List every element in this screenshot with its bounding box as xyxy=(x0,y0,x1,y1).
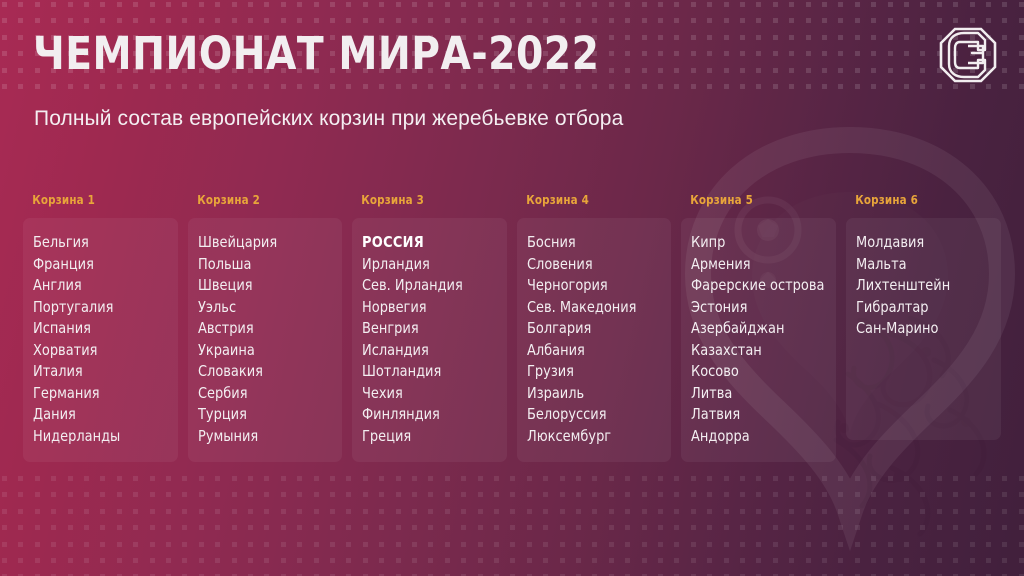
team-name: Азербайджан xyxy=(691,318,817,340)
team-name: Сербия xyxy=(198,383,323,405)
team-name: Англия xyxy=(33,275,158,297)
team-name: Болгария xyxy=(527,318,652,340)
team-name: Румыния xyxy=(198,426,323,448)
page-subtitle: Полный состав европейских корзин при жер… xyxy=(34,107,623,131)
team-name: Исландия xyxy=(362,340,487,362)
team-name: Белоруссия xyxy=(527,404,652,426)
team-name: Литва xyxy=(691,383,817,405)
team-name: Андорра xyxy=(691,426,817,448)
team-name: Албания xyxy=(527,340,652,362)
basket-card: БоснияСловенияЧерногорияСев. МакедонияБо… xyxy=(517,218,672,462)
team-name: Франция xyxy=(33,254,158,276)
basket-card: ШвейцарияПольшаШвецияУэльсАвстрияУкраина… xyxy=(188,218,343,462)
team-name: Ирландия xyxy=(362,254,487,276)
team-name: Польша xyxy=(198,254,323,276)
sport-express-logo-icon[interactable] xyxy=(938,26,998,84)
team-name: Уэльс xyxy=(198,297,323,319)
team-name: Финляндия xyxy=(362,404,487,426)
team-name: Гибралтар xyxy=(856,297,981,319)
team-name-highlighted: РОССИЯ xyxy=(362,232,487,254)
team-name: Эстония xyxy=(691,297,817,319)
team-name: Черногория xyxy=(527,275,652,297)
basket-card: КипрАрменияФарерские островаЭстонияАзерб… xyxy=(681,218,836,462)
team-name: Италия xyxy=(33,361,158,383)
team-name: Швейцария xyxy=(198,232,323,254)
team-name: Дания xyxy=(33,404,158,426)
team-name: Норвегия xyxy=(362,297,487,319)
baskets-container: Корзина 1БельгияФранцияАнглияПортугалияИ… xyxy=(23,192,1001,462)
team-name: Сев. Ирландия xyxy=(362,275,487,297)
team-name: Словакия xyxy=(198,361,323,383)
infographic-canvas: ЧЕМПИОНАТ МИРА-2022 Полный состав европе… xyxy=(0,0,1024,576)
team-name: Грузия xyxy=(527,361,652,383)
basket-card: МолдавияМальтаЛихтенштейнГибралтарСан-Ма… xyxy=(846,218,1001,440)
basket-card: РОССИЯИрландияСев. ИрландияНорвегияВенгр… xyxy=(352,218,507,462)
basket-column: Корзина 4БоснияСловенияЧерногорияСев. Ма… xyxy=(517,192,672,462)
team-name: Армения xyxy=(691,254,817,276)
team-name: Австрия xyxy=(198,318,323,340)
team-name: Бельгия xyxy=(33,232,158,254)
team-name: Украина xyxy=(198,340,323,362)
basket-title: Корзина 1 xyxy=(23,192,165,207)
basket-column: Корзина 6МолдавияМальтаЛихтенштейнГибрал… xyxy=(846,192,1001,462)
team-name: Швеция xyxy=(198,275,323,297)
basket-card: БельгияФранцияАнглияПортугалияИспанияХор… xyxy=(23,218,178,462)
basket-title: Корзина 2 xyxy=(188,192,330,207)
team-name: Люксембург xyxy=(527,426,652,448)
team-name: Фарерские острова xyxy=(691,275,817,297)
team-name: Чехия xyxy=(362,383,487,405)
team-name: Лихтенштейн xyxy=(856,275,981,297)
team-name: Греция xyxy=(362,426,487,448)
team-name: Кипр xyxy=(691,232,817,254)
dot-pattern-bottom xyxy=(0,476,1024,576)
team-name: Косово xyxy=(691,361,817,383)
team-name: Босния xyxy=(527,232,652,254)
team-name: Испания xyxy=(33,318,158,340)
team-name: Турция xyxy=(198,404,323,426)
basket-title: Корзина 4 xyxy=(517,192,659,207)
team-name: Сев. Македония xyxy=(527,297,652,319)
team-name: Мальта xyxy=(856,254,981,276)
team-name: Сан-Марино xyxy=(856,318,981,340)
team-name: Хорватия xyxy=(33,340,158,362)
team-name: Словения xyxy=(527,254,652,276)
team-name: Португалия xyxy=(33,297,158,319)
team-name: Молдавия xyxy=(856,232,981,254)
basket-column: Корзина 5КипрАрменияФарерские островаЭст… xyxy=(681,192,836,462)
team-name: Нидерланды xyxy=(33,426,158,448)
team-name: Латвия xyxy=(691,404,817,426)
page-title: ЧЕМПИОНАТ МИРА-2022 xyxy=(33,27,599,80)
basket-column: Корзина 1БельгияФранцияАнглияПортугалияИ… xyxy=(23,192,178,462)
team-name: Казахстан xyxy=(691,340,817,362)
team-name: Шотландия xyxy=(362,361,487,383)
team-name: Германия xyxy=(33,383,158,405)
team-name: Израиль xyxy=(527,383,652,405)
header: ЧЕМПИОНАТ МИРА-2022 Полный состав европе… xyxy=(0,0,1024,150)
basket-title: Корзина 3 xyxy=(352,192,494,207)
team-name: Венгрия xyxy=(362,318,487,340)
basket-column: Корзина 3РОССИЯИрландияСев. ИрландияНорв… xyxy=(352,192,507,462)
basket-title: Корзина 6 xyxy=(846,192,988,207)
basket-column: Корзина 2ШвейцарияПольшаШвецияУэльсАвстр… xyxy=(188,192,343,462)
basket-title: Корзина 5 xyxy=(681,192,824,207)
